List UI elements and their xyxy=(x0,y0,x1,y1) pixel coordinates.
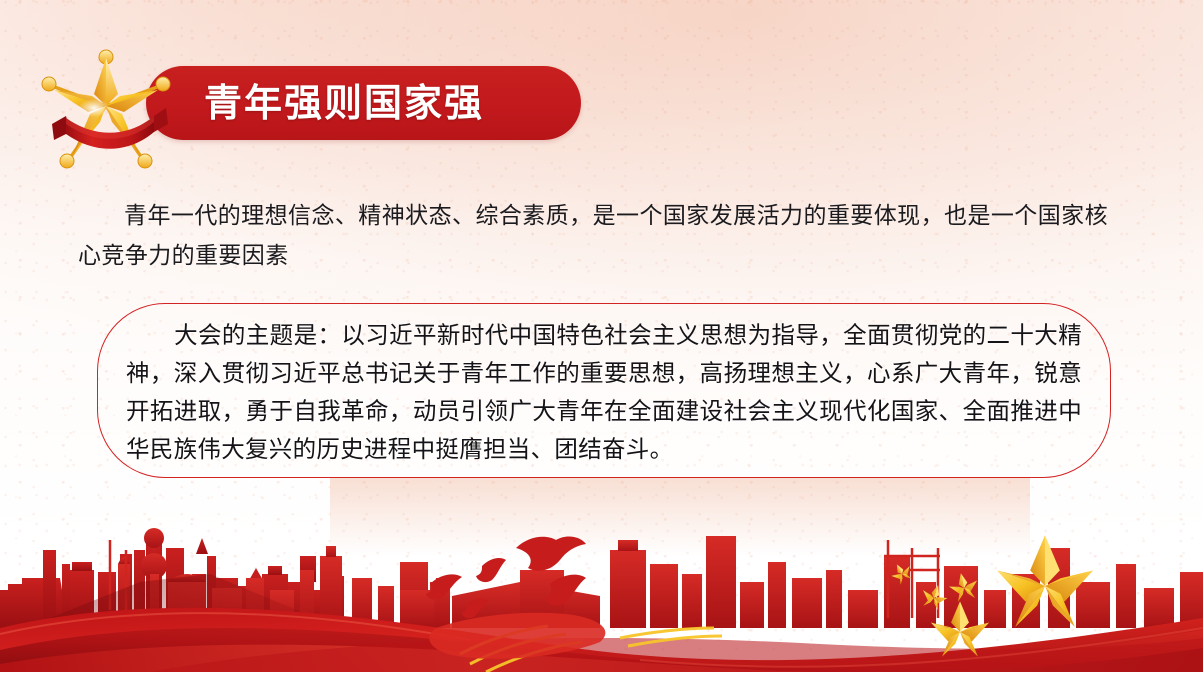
quote-paragraph-text: 大会的主题是：以习近平新时代中国特色社会主义思想为指导，全面贯彻党的二十大精神，… xyxy=(126,322,1082,462)
slide-canvas: 青年强则国家强 xyxy=(0,0,1203,678)
bottom-white-strip xyxy=(0,672,1203,678)
intro-paragraph: 青年一代的理想信念、精神状态、综合素质，是一个国家发展活力的重要体现，也是一个国… xyxy=(78,195,1108,275)
bottom-artwork xyxy=(0,478,1203,678)
page-title: 青年强则国家强 xyxy=(204,78,594,130)
gold-star-ribbon-emblem-icon xyxy=(36,46,176,174)
quote-box-paragraph: 大会的主题是：以习近平新时代中国特色社会主义思想为指导，全面贯彻党的二十大精神，… xyxy=(126,316,1082,468)
intro-paragraph-text: 青年一代的理想信念、精神状态、综合素质，是一个国家发展活力的重要体现，也是一个国… xyxy=(78,202,1108,268)
